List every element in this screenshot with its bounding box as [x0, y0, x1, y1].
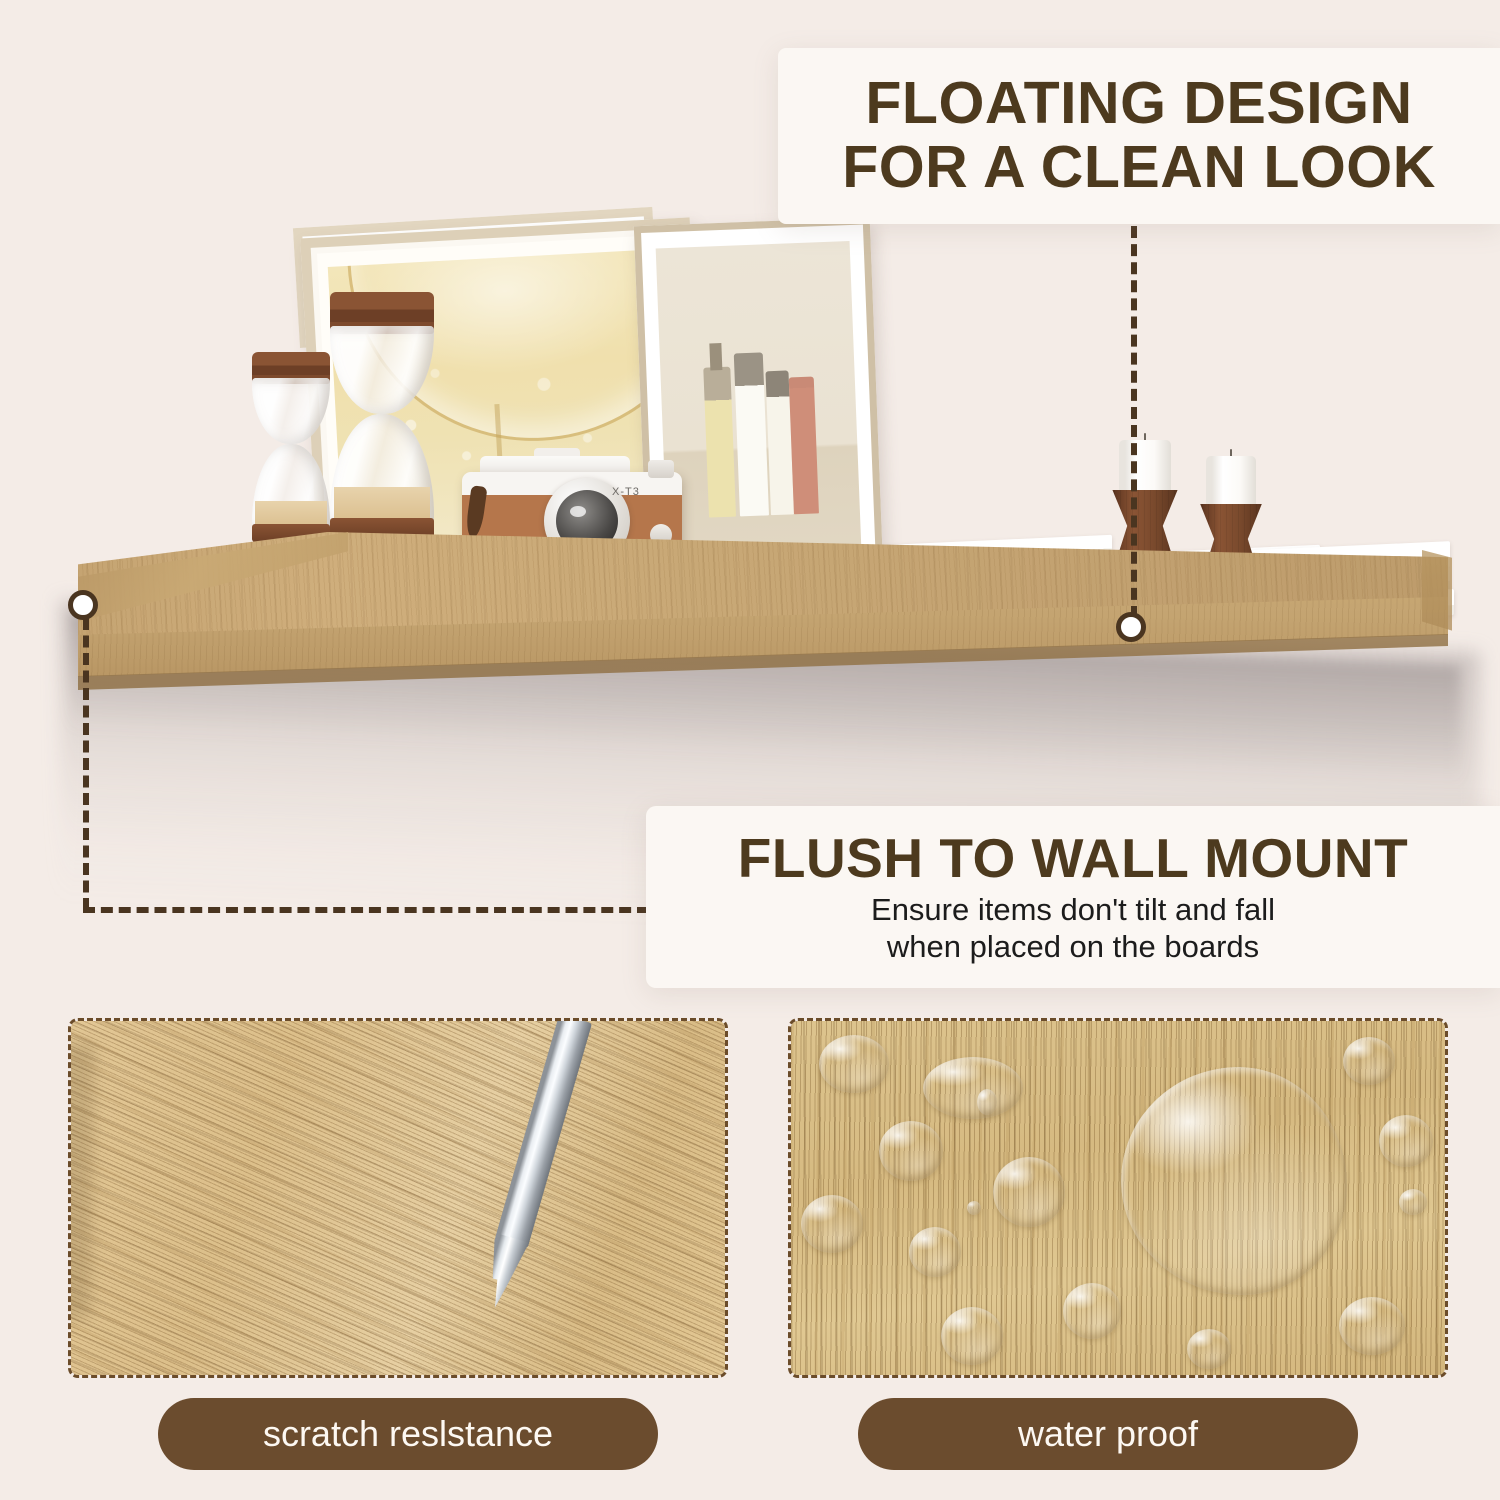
flush-mount-subtext: Ensure items don't tilt and fall when pl… — [871, 892, 1275, 965]
screwdriver-shadow — [68, 1042, 95, 1319]
water-droplet — [967, 1201, 981, 1215]
water-droplet — [819, 1035, 889, 1093]
wood-surface-with-screwdriver — [68, 1018, 728, 1378]
wall-mount-marker — [68, 590, 98, 620]
shelf-front-edge-marker — [1116, 612, 1146, 642]
feature-card-scratch — [68, 1018, 728, 1378]
top-callout-leader-line — [1131, 226, 1137, 618]
wall-mount-leader-horizontal — [83, 907, 649, 913]
floating-design-headline: FLOATING DESIGN FOR A CLEAN LOOK — [842, 72, 1436, 199]
water-droplet — [977, 1089, 997, 1115]
oak-grain-texture — [71, 1021, 725, 1375]
subtext-line-1: Ensure items don't tilt and fall — [871, 892, 1275, 929]
water-droplet — [1379, 1115, 1433, 1167]
product-infographic: X-T3 ИСКУССТВО СТРАТЕГИИ Эрик Мейер CERE… — [0, 0, 1500, 1500]
water-droplet — [1343, 1037, 1395, 1085]
large-water-droplet — [1121, 1067, 1347, 1295]
scratch-resistance-label: scratch reslstance — [158, 1398, 658, 1470]
headline-line-2: FOR A CLEAN LOOK — [842, 136, 1436, 200]
shelf-right-end — [1422, 550, 1452, 680]
hourglass-upper-bulb — [252, 378, 330, 444]
flush-mount-headline: FLUSH TO WALL MOUNT — [738, 829, 1408, 888]
hourglass-upper-bulb — [330, 326, 434, 414]
floating-design-callout-panel: FLOATING DESIGN FOR A CLEAN LOOK — [778, 48, 1500, 224]
water-proof-label: water proof — [858, 1398, 1358, 1470]
wood-surface-with-water-droplets — [788, 1018, 1448, 1378]
water-droplet — [1187, 1329, 1231, 1369]
wall-mount-leader-vertical — [83, 618, 89, 910]
water-droplet — [941, 1307, 1003, 1365]
water-droplet — [1063, 1283, 1121, 1339]
subtext-line-2: when placed on the boards — [871, 929, 1275, 966]
water-droplet — [801, 1195, 863, 1253]
water-droplet — [879, 1121, 943, 1181]
floating-shelf — [0, 440, 1500, 780]
feature-card-water — [788, 1018, 1448, 1378]
water-droplet — [993, 1157, 1065, 1227]
water-droplet — [1399, 1189, 1427, 1215]
headline-line-1: FLOATING DESIGN — [842, 72, 1436, 136]
flush-mount-callout-panel: FLUSH TO WALL MOUNT Ensure items don't t… — [646, 806, 1500, 988]
water-droplet — [1339, 1297, 1405, 1355]
water-droplet — [909, 1227, 961, 1277]
water-droplet — [923, 1057, 1023, 1119]
